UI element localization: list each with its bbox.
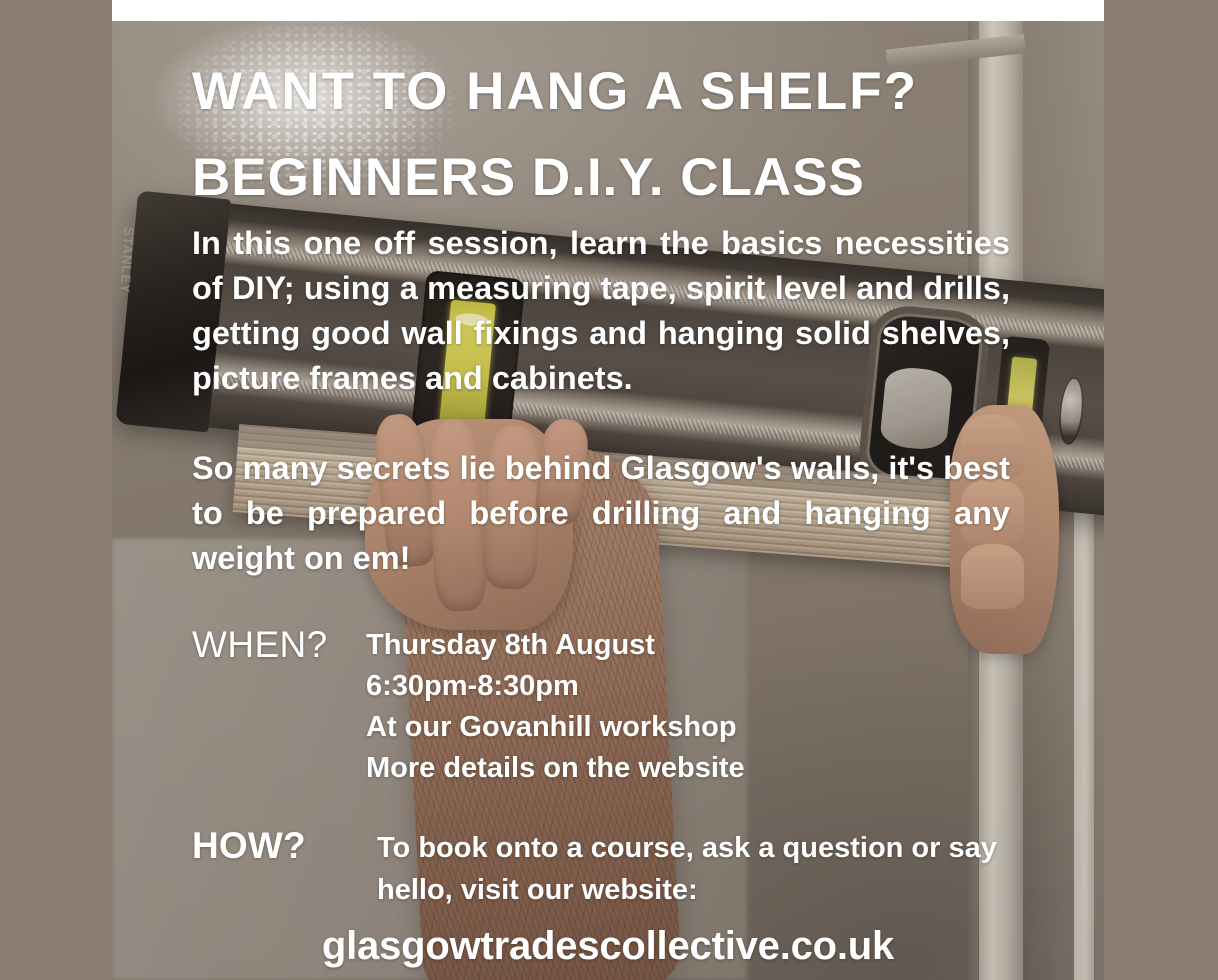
poster-text-layer: WANT TO HANG A SHELF? BEGINNERS D.I.Y. C… xyxy=(112,21,1104,980)
how-line-booking: To book onto a course, ask a question or… xyxy=(377,827,1017,911)
when-label: WHEN? xyxy=(192,625,328,665)
background-photo: STANLEY xyxy=(112,21,1104,980)
how-label: HOW? xyxy=(192,826,306,866)
top-white-strip xyxy=(112,0,1104,21)
headline-line-1: WANT TO HANG A SHELF? xyxy=(192,49,1042,135)
when-line-location: At our Govanhill workshop xyxy=(366,707,745,748)
poster-headline: WANT TO HANG A SHELF? BEGINNERS D.I.Y. C… xyxy=(192,49,1042,221)
how-details: To book onto a course, ask a question or… xyxy=(377,827,1017,911)
when-line-date: Thursday 8th August xyxy=(366,625,745,666)
poster-paragraph-2: So many secrets lie behind Glasgow's wal… xyxy=(192,446,1010,581)
when-line-time: 6:30pm-8:30pm xyxy=(366,666,745,707)
poster-canvas: STANLEY xyxy=(0,0,1218,980)
when-line-more-details: More details on the website xyxy=(366,748,745,789)
when-details: Thursday 8th August 6:30pm-8:30pm At our… xyxy=(366,625,745,789)
headline-line-2: BEGINNERS D.I.Y. CLASS xyxy=(192,135,1042,221)
website-url[interactable]: glasgowtradescollective.co.uk xyxy=(112,922,1104,970)
poster-paragraph-1: In this one off session, learn the basic… xyxy=(192,221,1010,401)
